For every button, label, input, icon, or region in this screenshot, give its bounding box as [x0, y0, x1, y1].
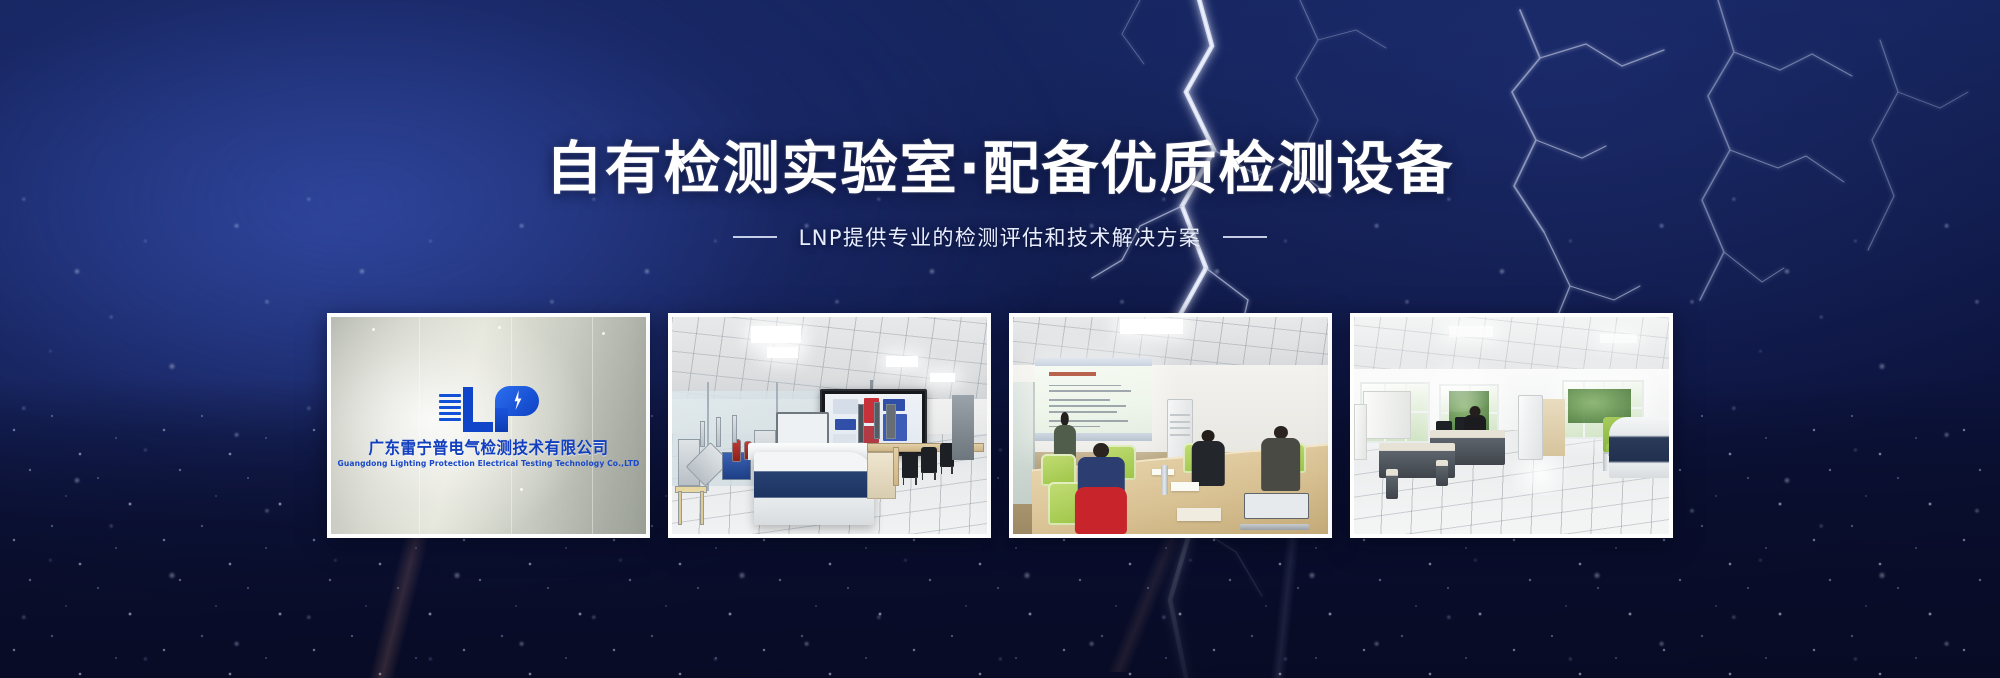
paper-sheet: [1171, 482, 1199, 491]
attendee-person-left: [1189, 430, 1227, 486]
gallery-item-company-sign[interactable]: 广东雷宁普电气检测技术有限公司 Guangdong Lighting Prote…: [327, 313, 650, 538]
wood-shelf-unit: [1543, 399, 1565, 455]
wall-fixture-dot: [498, 326, 501, 329]
chair-leg: [1603, 454, 1608, 471]
slide-toolbar: [1035, 358, 1152, 365]
hero-banner: 自有检测实验室·配备优质检测设备 LNP提供专业的检测评估和技术解决方案: [0, 0, 2000, 678]
page-subtitle: LNP提供专业的检测评估和技术解决方案: [799, 222, 1202, 252]
office-chair: [921, 447, 937, 473]
slide-title-line: [1049, 372, 1096, 375]
right-rule-line: [1223, 236, 1267, 238]
lnp-logo-icon: [331, 382, 646, 432]
ceiling-panel-light: [930, 373, 955, 382]
hero-text-block: 自有检测实验室·配备优质检测设备 LNP提供专业的检测评估和技术解决方案: [0, 138, 2000, 252]
company-name-cn: 广东雷宁普电气检测技术有限公司: [331, 436, 646, 459]
laptop: [1240, 493, 1309, 530]
company-name-en: Guangdong Lighting Protection Electrical…: [331, 459, 646, 468]
bench-leg: [700, 491, 704, 526]
company-sign-wall-photo: 广东雷宁普电气检测技术有限公司 Guangdong Lighting Prote…: [331, 317, 646, 534]
left-rule-line: [733, 236, 777, 238]
page-title: 自有检测实验室·配备优质检测设备: [0, 138, 2000, 202]
logo-letter-l: [463, 387, 493, 432]
ceiling-panel-light: [1120, 319, 1183, 334]
ceiling-panel-light: [886, 356, 918, 367]
hv-post: [716, 417, 721, 447]
ceiling-panel-light: [767, 347, 799, 358]
desk-leg: [893, 447, 899, 486]
hv-post: [700, 421, 705, 447]
wall-fixture-dot: [372, 328, 375, 331]
gallery-item-hv-lab[interactable]: [668, 313, 991, 538]
equipment-rack: [858, 404, 864, 443]
ceiling-panel-light: [1600, 334, 1638, 343]
training-meeting-room-photo: [1013, 317, 1328, 534]
control-console: [754, 452, 874, 526]
subtitle-row: LNP提供专业的检测评估和技术解决方案: [0, 222, 2000, 252]
ceiling-panel-light: [1449, 326, 1493, 337]
high-voltage-lab-photo: [672, 317, 987, 534]
company-sign: 广东雷宁普电气检测技术有限公司 Guangdong Lighting Prote…: [331, 382, 646, 468]
attendee-person-right: [1259, 426, 1303, 491]
photo-gallery: 广东雷宁普电气检测技术有限公司 Guangdong Lighting Prote…: [0, 313, 2000, 538]
air-conditioner: [1518, 395, 1543, 460]
gallery-item-meeting-room[interactable]: [1009, 313, 1332, 538]
water-bottle: [1161, 465, 1168, 495]
attendee-person-front: [1073, 443, 1130, 534]
glass-partition: [1363, 391, 1410, 439]
bench-leg: [678, 491, 682, 526]
ceiling-panel-light: [751, 326, 801, 343]
wood-cabinet: [867, 452, 895, 500]
notebook: [1177, 508, 1221, 521]
bright-office-room-photo: [1354, 317, 1669, 534]
hv-post: [732, 415, 737, 443]
gallery-item-office[interactable]: [1350, 313, 1673, 538]
desk-leg: [1436, 460, 1449, 486]
office-chair: [902, 452, 918, 478]
logo-bars: [439, 394, 461, 433]
corridor-doorway: [952, 395, 974, 460]
reception-counter: [1609, 417, 1669, 478]
equipment-rack: [886, 404, 895, 439]
equipment-rack: [874, 402, 880, 439]
logo-letter-p: [495, 386, 539, 432]
desk-leg: [1386, 469, 1399, 499]
side-cabinet: [1354, 404, 1367, 460]
